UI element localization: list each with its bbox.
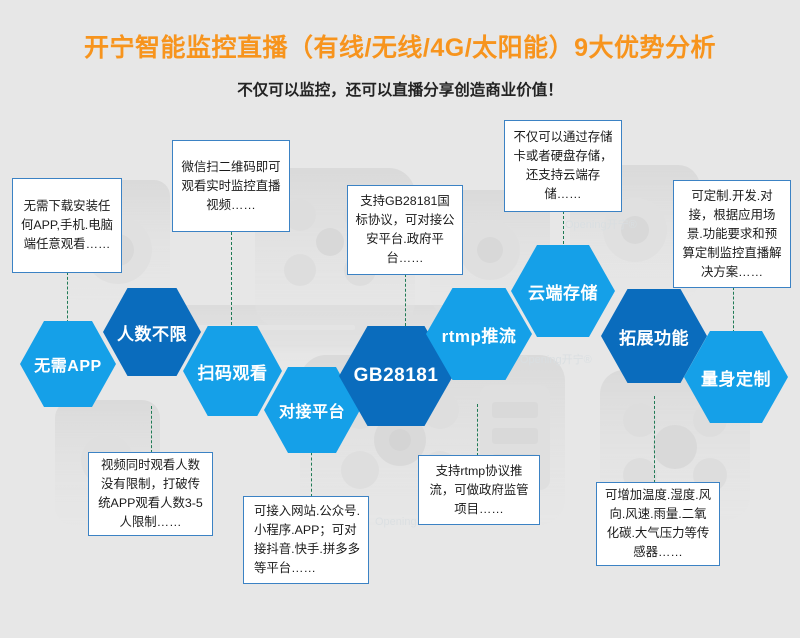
callout-extended-functions: 可增加温度.湿度.风向.风速.雨量.二氧化碳.大气压力等传感器…… [596, 482, 720, 566]
connector-no-app [67, 272, 68, 328]
page-subtitle: 不仅可以监控，还可以直播分享创造商业价值！ [0, 78, 800, 100]
callout-text: 可定制.开发.对接，根据应用场景.功能要求和预算定制监控直播解决方案…… [681, 187, 783, 282]
callout-text: 视频同时观看人数没有限制，打破传统APP观看人数3-5人限制…… [96, 456, 205, 532]
svg-text:Opening: Opening [375, 516, 417, 528]
connector-gb28181 [405, 274, 406, 326]
callout-text: 微信扫二维码即可观看实时监控直播视频…… [180, 158, 282, 215]
hex-label: 拓展功能 [615, 324, 693, 349]
hex-label: 云端存储 [524, 279, 602, 304]
callout-text: 无需下载安装任何APP,手机.电脑端任意观看…… [20, 197, 114, 254]
hex-scan-to-watch[interactable]: 扫码观看 [183, 326, 282, 416]
callout-gb28181: 支持GB28181国标协议，可对接公安平台.政府平台…… [347, 185, 463, 275]
hex-label: 人数不限 [113, 320, 191, 345]
hex-label: 对接平台 [275, 398, 349, 422]
connector-scan-to-watch [231, 232, 232, 330]
callout-text: 不仅可以通过存储卡或者硬盘存储，还支持云端存储…… [512, 128, 614, 204]
callout-platform-docking: 可接入网站.公众号.小程序.APP；可对接抖音.快手.拼多多等平台…… [243, 496, 369, 584]
connector-tailor-made [733, 287, 734, 333]
hex-label: 无需APP [30, 352, 105, 376]
callout-text: 可增加温度.湿度.风向.风速.雨量.二氧化碳.大气压力等传感器…… [604, 486, 712, 562]
callout-text: 支持GB28181国标协议，可对接公安平台.政府平台…… [355, 192, 455, 268]
hex-unlimited-viewers[interactable]: 人数不限 [103, 288, 201, 376]
connector-unlimited-viewers [151, 406, 152, 453]
callout-no-app: 无需下载安装任何APP,手机.电脑端任意观看…… [12, 178, 122, 273]
connector-extended-functions [654, 396, 655, 483]
callout-cloud-storage: 不仅可以通过存储卡或者硬盘存储，还支持云端存储…… [504, 120, 622, 212]
hex-label: rtmp推流 [438, 322, 521, 347]
callout-text: 可接入网站.公众号.小程序.APP；可对接抖音.快手.拼多多等平台…… [254, 502, 361, 578]
infographic-canvas: Opening开宁® Opening开宁® Opening开宁® Opening… [0, 0, 800, 638]
callout-unlimited-viewers: 视频同时观看人数没有限制，打破传统APP观看人数3-5人限制…… [88, 452, 213, 536]
hex-label: 量身定制 [697, 365, 775, 390]
page-title: 开宁智能监控直播（有线/无线/4G/太阳能）9大优势分析 [0, 28, 800, 64]
hex-label: GB28181 [350, 365, 443, 387]
connector-platform-docking [311, 447, 312, 497]
hex-label: 扫码观看 [194, 359, 272, 384]
hex-no-app[interactable]: 无需APP [20, 321, 116, 407]
svg-text:Opening开宁®: Opening开宁® [520, 352, 592, 366]
callout-scan-to-watch: 微信扫二维码即可观看实时监控直播视频…… [172, 140, 290, 232]
hex-cloud-storage[interactable]: 云端存储 [511, 245, 615, 337]
svg-text:Opening开宁®: Opening开宁® [565, 217, 637, 231]
callout-text: 支持rtmp协议推流，可做政府监管项目…… [426, 462, 532, 519]
callout-tailor-made: 可定制.开发.对接，根据应用场景.功能要求和预算定制监控直播解决方案…… [673, 180, 791, 288]
connector-rtmp-push [477, 404, 478, 456]
callout-rtmp-push: 支持rtmp协议推流，可做政府监管项目…… [418, 455, 540, 525]
